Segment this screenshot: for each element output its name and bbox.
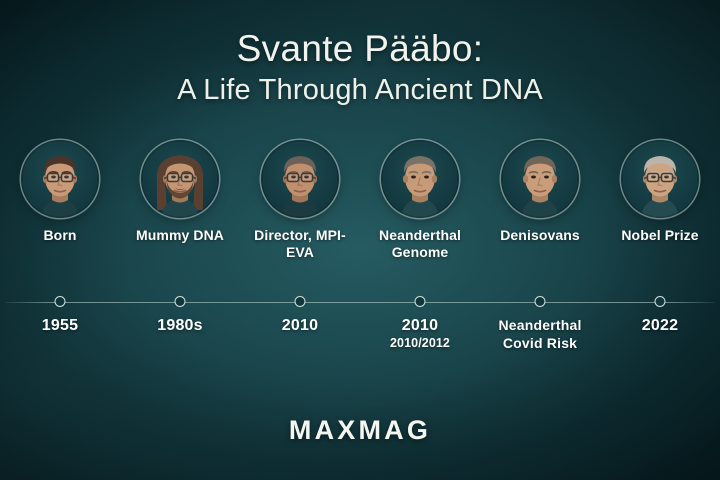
timeline-column: Nobel Prize xyxy=(600,140,720,380)
timeline-node-nobel-prize[interactable] xyxy=(655,296,666,307)
timeline-column: Denisovans xyxy=(480,140,600,380)
timeline-column: Born xyxy=(0,140,120,380)
portrait-svante-paabo-denisovan-era xyxy=(501,140,579,218)
portrait-bearded-svante-paabo xyxy=(141,140,219,218)
portrait-young-svante-paabo xyxy=(21,140,99,218)
timeline-event-label: Neanderthal Genome xyxy=(361,227,479,261)
timeline-node-denisovans[interactable] xyxy=(535,296,546,307)
timeline-axis-line xyxy=(6,302,714,303)
timeline-column: Neanderthal Genome xyxy=(360,140,480,380)
portrait-svante-paabo-neanderthal-era xyxy=(381,140,459,218)
timeline-event-label: Director, MPI-EVA xyxy=(241,227,359,261)
timeline-column: Director, MPI-EVA xyxy=(240,140,360,380)
timeline-event-label: Mummy DNA xyxy=(121,227,239,244)
timeline-column: Mummy DNA xyxy=(120,140,240,380)
title-line-2: A Life Through Ancient DNA xyxy=(0,71,720,109)
infographic-canvas: Svante Pääbo: A Life Through Ancient DNA xyxy=(0,0,720,480)
brand-logo: MAXMAG xyxy=(0,415,720,446)
timeline-event-label: Denisovans xyxy=(481,227,599,244)
timeline-node-born[interactable] xyxy=(55,296,66,307)
timeline-portrait-row: Born xyxy=(0,140,720,380)
timeline-node-neanderthal-genome[interactable] xyxy=(415,296,426,307)
portrait-middle-aged-svante-paabo xyxy=(261,140,339,218)
timeline-event-label: Nobel Prize xyxy=(601,227,719,244)
title-line-1: Svante Pääbo: xyxy=(0,26,720,71)
timeline-node-director-mpi-eva[interactable] xyxy=(295,296,306,307)
timeline-node-mummy-dna[interactable] xyxy=(175,296,186,307)
timeline-event-label: Born xyxy=(1,227,119,244)
page-title: Svante Pääbo: A Life Through Ancient DNA xyxy=(0,26,720,109)
portrait-elderly-svante-paabo xyxy=(621,140,699,218)
